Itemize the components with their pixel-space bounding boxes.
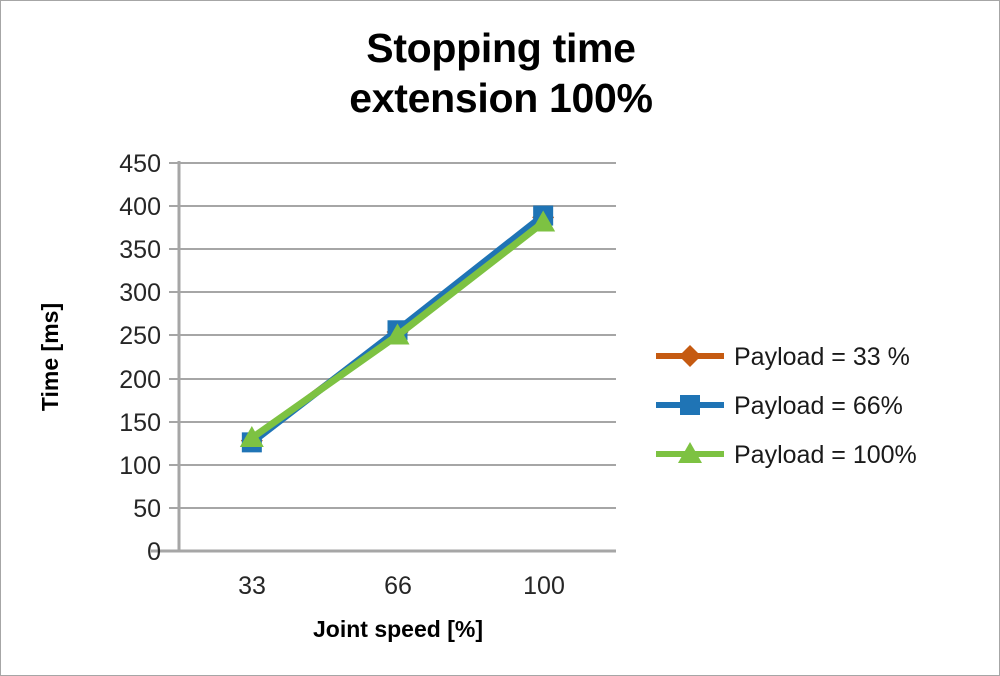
y-tick-label-250: 250 — [119, 322, 161, 350]
legend-label: Payload = 33 % — [734, 343, 910, 371]
y-tick-label-300: 300 — [119, 279, 161, 307]
legend-label: Payload = 66% — [734, 392, 903, 420]
y-tick-label-400: 400 — [119, 193, 161, 221]
legend-entry-3[interactable]: Payload = 100% — [656, 441, 917, 469]
plot-area: 450 400 350 300 250 200 150 100 50 0 33 … — [1, 1, 1000, 676]
chart-screenshot: Stopping time extension 100% — [0, 0, 1000, 676]
y-tick-label-450: 450 — [119, 150, 161, 178]
y-tick-label-0: 0 — [147, 538, 161, 566]
x-tick-labels: 33 66 100 — [238, 572, 565, 600]
legend-label: Payload = 100% — [734, 441, 917, 469]
y-axis-title: Time [ms] — [37, 303, 63, 411]
y-tick-label-50: 50 — [133, 495, 161, 523]
x-tick-label-100: 100 — [523, 572, 565, 600]
chart-legend: Payload = 33 %Payload = 66%Payload = 100… — [656, 343, 917, 469]
x-tick-label-33: 33 — [238, 572, 266, 600]
y-tick-label-100: 100 — [119, 452, 161, 480]
y-tick-label-200: 200 — [119, 366, 161, 394]
legend-entry-2[interactable]: Payload = 66% — [656, 392, 903, 420]
legend-entry-1[interactable]: Payload = 33 % — [656, 343, 910, 371]
chart-canvas: Stopping time extension 100% — [1, 1, 999, 675]
series-3 — [240, 210, 555, 447]
y-tick-label-150: 150 — [119, 409, 161, 437]
y-tick-label-350: 350 — [119, 236, 161, 264]
x-tick-label-66: 66 — [384, 572, 412, 600]
legend-marker-diamond — [679, 345, 701, 367]
legend-marker-square — [680, 395, 700, 415]
data-series-layer — [240, 206, 555, 453]
x-axis-title: Joint speed [%] — [313, 616, 483, 642]
y-tick-labels: 450 400 350 300 250 200 150 100 50 0 — [119, 150, 161, 566]
